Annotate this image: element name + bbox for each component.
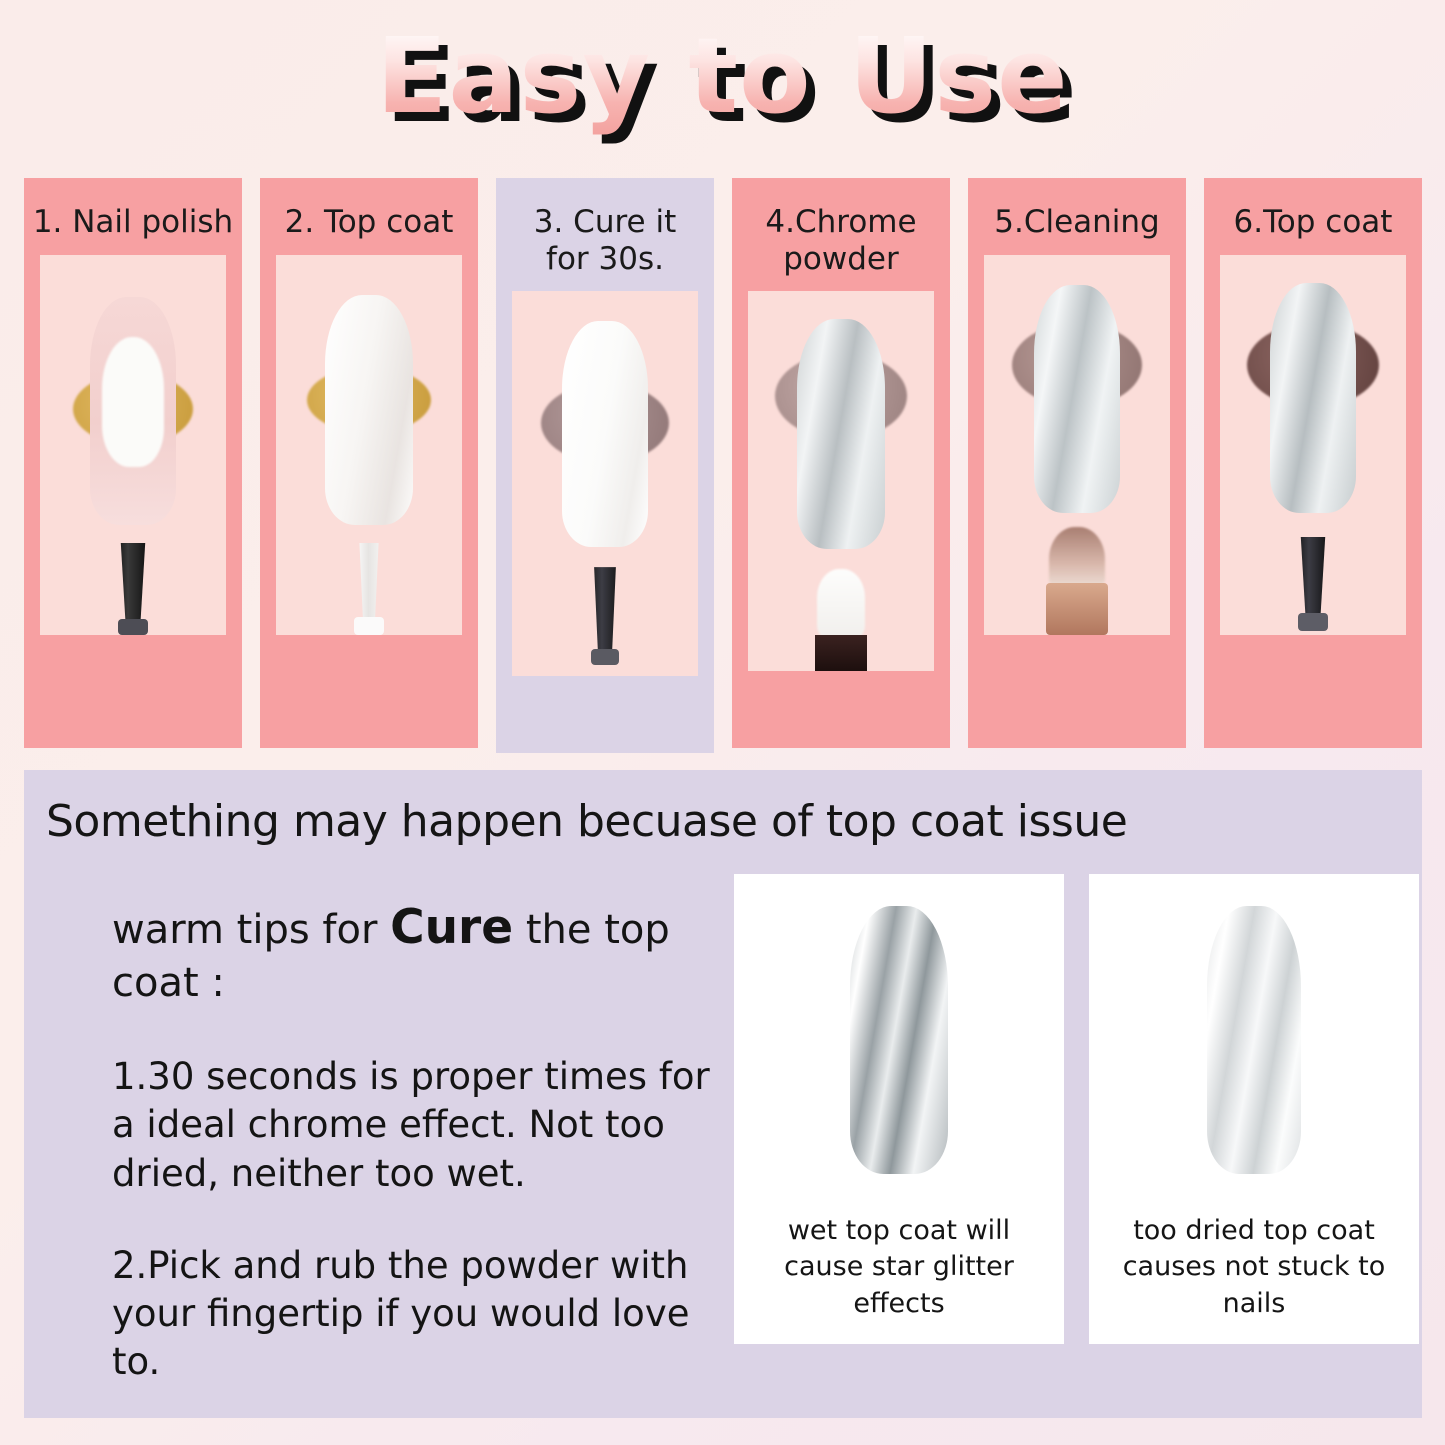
applicator-handle-black	[815, 635, 867, 671]
step-card-3: 3. Cure it for 30s.	[496, 178, 714, 753]
result-caption-1: wet top coat will cause star glitter eff…	[734, 1213, 1064, 1344]
nail-tip-chrome	[1034, 285, 1120, 513]
result-card-wet-top-coat: wet top coat will cause star glitter eff…	[734, 874, 1064, 1344]
nail-tip-chrome	[797, 319, 885, 549]
page-title-text: Easy to Use	[376, 15, 1068, 137]
dusting-brush-bristles	[1049, 527, 1105, 589]
nail-tip-chrome	[1270, 283, 1356, 513]
tips-intro-before: warm tips for	[112, 907, 390, 953]
step-photo-2	[276, 255, 462, 635]
nail-tip-pearly-white	[1207, 906, 1301, 1174]
step-label-6: 6.Top coat	[1204, 178, 1422, 255]
step-photo-6	[1220, 255, 1406, 635]
step-photo-4	[748, 291, 934, 671]
nail-tip-white-cured	[562, 321, 648, 547]
steps-row: 1. Nail polish 2. Top coat 3. Cure it fo…	[24, 178, 1424, 753]
sponge-applicator-white	[817, 569, 865, 641]
result-photo-mirror-chrome	[734, 874, 1064, 1213]
step-card-2: 2. Top coat	[260, 178, 478, 748]
page-title: Easy to Use Easy to Use	[0, 22, 1445, 131]
step-label-4: 4.Chrome powder	[732, 178, 950, 291]
step-label-2: 2. Top coat	[260, 178, 478, 255]
result-photo-pearly-white	[1089, 874, 1419, 1213]
step-photo-1	[40, 255, 226, 635]
brush-collar	[591, 649, 619, 665]
step-label-3: 3. Cure it for 30s.	[496, 178, 714, 291]
warm-tips-block: warm tips for Cure the top coat : 1.30 s…	[112, 898, 732, 1386]
dusting-brush-ferrule	[1046, 583, 1108, 635]
step-card-4: 4.Chrome powder	[732, 178, 950, 748]
step-card-5: 5.Cleaning	[968, 178, 1186, 748]
brush-collar	[354, 617, 384, 635]
brush-handle-black	[116, 543, 150, 623]
step-label-5: 5.Cleaning	[968, 178, 1186, 255]
nail-tip-mirror-chrome	[850, 906, 948, 1174]
result-caption-2: too dried top coat causes not stuck to n…	[1089, 1213, 1419, 1344]
tips-intro: warm tips for Cure the top coat :	[112, 898, 732, 1009]
white-polish-stroke	[102, 337, 164, 467]
brush-collar	[1298, 613, 1328, 631]
step-photo-3	[512, 291, 698, 676]
tip-1: 1.30 seconds is proper times for a ideal…	[112, 1053, 732, 1197]
brush-collar	[118, 619, 148, 635]
top-coat-issue-panel: Something may happen becuase of top coat…	[24, 770, 1422, 1418]
brush-handle-black	[589, 567, 621, 653]
brush-handle-white	[354, 543, 384, 621]
step-card-6: 6.Top coat	[1204, 178, 1422, 748]
panel-heading: Something may happen becuase of top coat…	[24, 770, 1422, 847]
result-card-dried-top-coat: too dried top coat causes not stuck to n…	[1089, 874, 1419, 1344]
step-card-1: 1. Nail polish	[24, 178, 242, 748]
tip-2: 2.Pick and rub the powder with your fing…	[112, 1242, 732, 1386]
step-label-1: 1. Nail polish	[24, 178, 242, 255]
infographic-page: Easy to Use Easy to Use 1. Nail polish 2…	[0, 0, 1445, 1445]
tips-intro-bold: Cure	[390, 900, 513, 955]
nail-tip-white	[325, 295, 413, 525]
brush-handle-black	[1296, 537, 1330, 617]
step-photo-5	[984, 255, 1170, 635]
